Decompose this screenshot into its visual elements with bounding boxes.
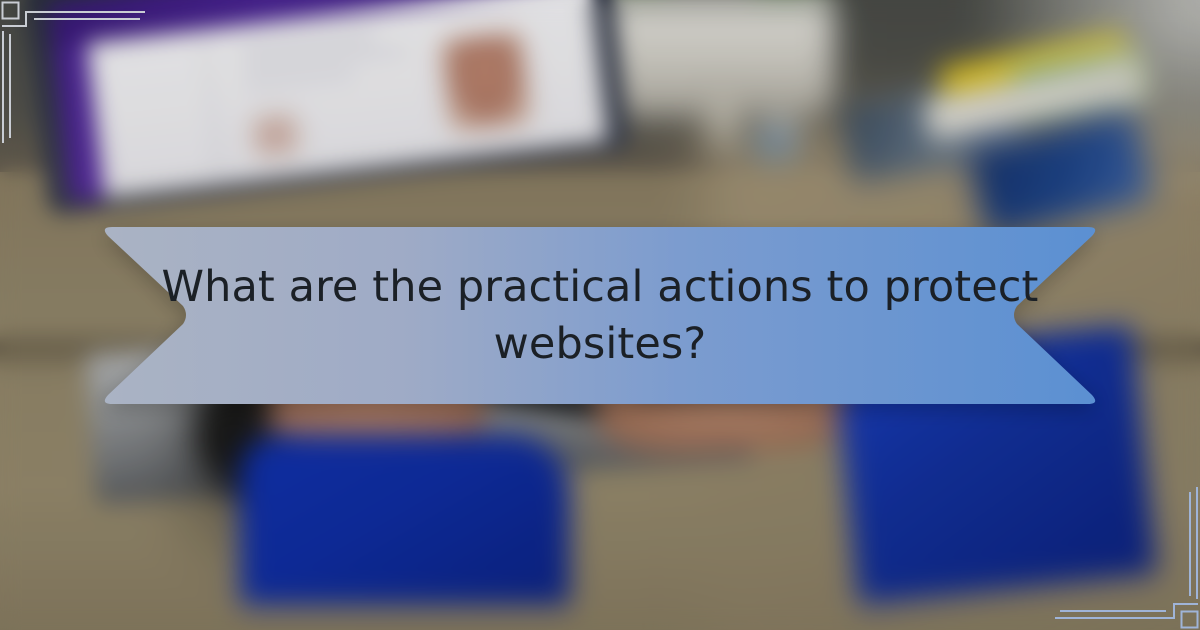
article-header-card: What are the practical actions to protec…: [0, 0, 1200, 630]
desk-item-blue-small: [740, 115, 810, 170]
laptop-screen-image: [440, 32, 532, 133]
card-title-line-1: What are the practical actions to protec…: [162, 259, 1039, 316]
card-title: What are the practical actions to protec…: [100, 227, 1100, 404]
card-title-line-2: websites?: [494, 316, 707, 373]
person-left-sleeve: [240, 435, 570, 605]
laptop-screen-image: [250, 112, 300, 159]
title-ribbon: What are the practical actions to protec…: [100, 227, 1100, 404]
